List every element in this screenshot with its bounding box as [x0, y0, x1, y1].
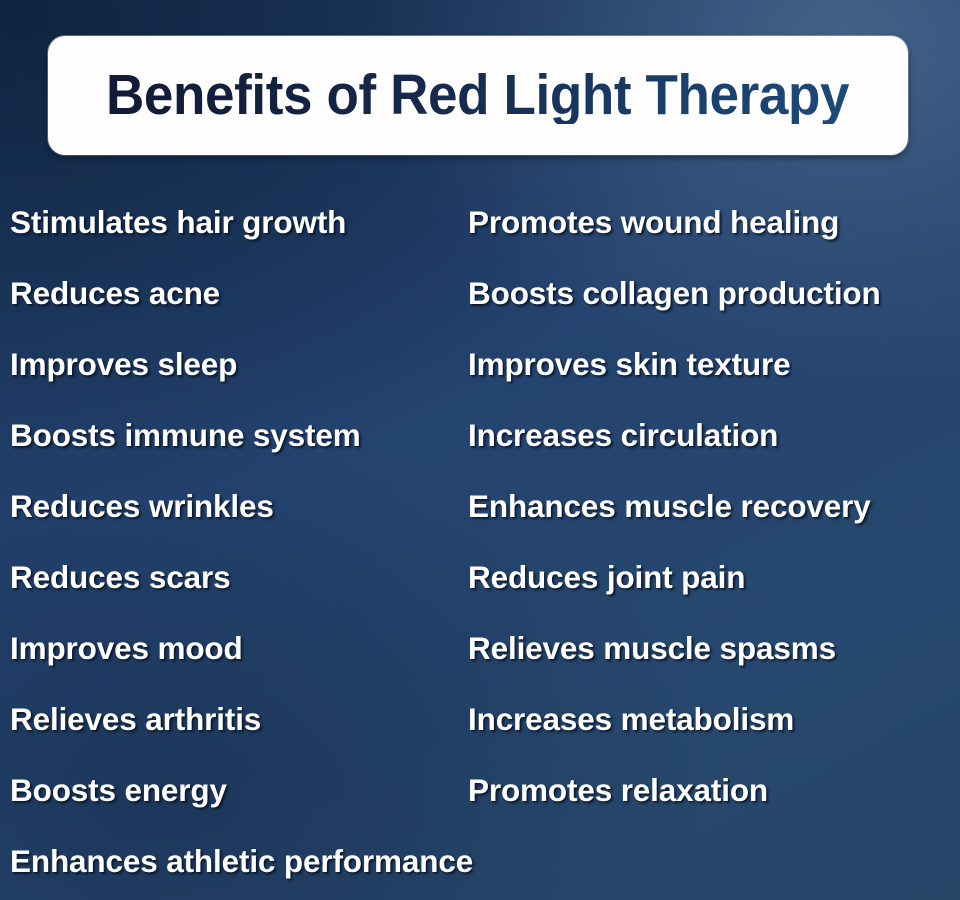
- list-item: Boosts immune system: [10, 409, 480, 480]
- list-item: Reduces wrinkles: [10, 480, 480, 551]
- benefits-column-right: Promotes wound healing Boosts collagen p…: [468, 196, 960, 835]
- list-item: Boosts collagen production: [468, 267, 960, 338]
- list-item: Increases metabolism: [468, 693, 960, 764]
- list-item: Promotes wound healing: [468, 196, 960, 267]
- list-item: Reduces acne: [10, 267, 480, 338]
- list-item: Boosts energy: [10, 764, 480, 835]
- list-item: Increases circulation: [468, 409, 960, 480]
- list-item: Improves sleep: [10, 338, 480, 409]
- list-item: Improves skin texture: [468, 338, 960, 409]
- list-item: Stimulates hair growth: [10, 196, 480, 267]
- list-item: Relieves arthritis: [10, 693, 480, 764]
- title-card: Benefits of Red Light Therapy: [48, 36, 908, 155]
- page-title: Benefits of Red Light Therapy: [106, 67, 849, 124]
- list-item: Enhances athletic performance: [10, 835, 710, 900]
- benefits-list: Stimulates hair growth Reduces acne Impr…: [0, 196, 960, 886]
- list-item: Enhances muscle recovery: [468, 480, 960, 551]
- list-item: Promotes relaxation: [468, 764, 960, 835]
- benefits-column-left: Stimulates hair growth Reduces acne Impr…: [10, 196, 480, 900]
- list-item: Relieves muscle spasms: [468, 622, 960, 693]
- list-item: Improves mood: [10, 622, 480, 693]
- poster-root: Benefits of Red Light Therapy Stimulates…: [0, 0, 960, 900]
- list-item: Reduces scars: [10, 551, 480, 622]
- list-item: Reduces joint pain: [468, 551, 960, 622]
